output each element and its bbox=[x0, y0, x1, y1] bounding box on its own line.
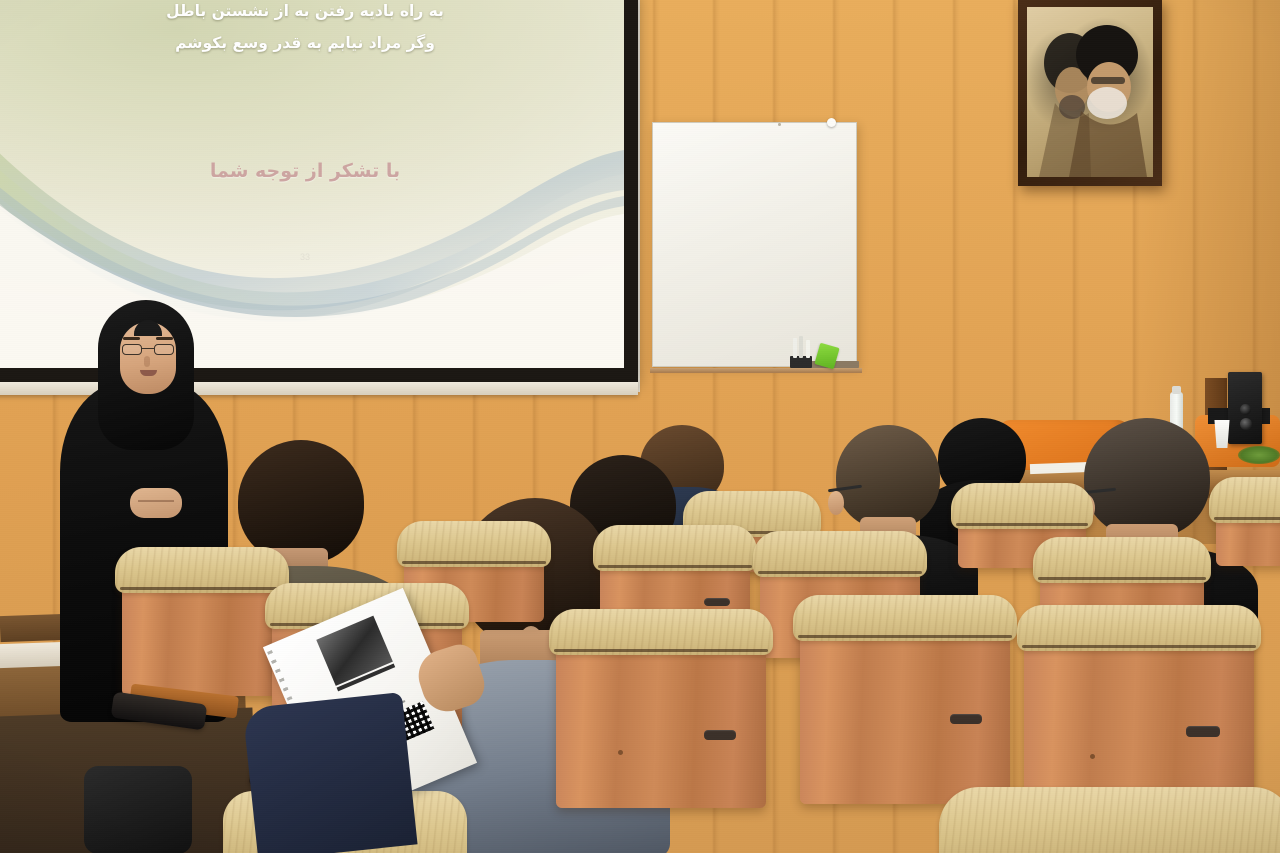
marker-icon bbox=[806, 340, 810, 358]
glasses-lens-left bbox=[122, 344, 142, 355]
chair-seam bbox=[554, 649, 768, 652]
ear bbox=[828, 491, 844, 515]
chair-seam bbox=[956, 523, 1088, 526]
presenter-glasses bbox=[122, 344, 174, 355]
presenter-eyebrow bbox=[156, 337, 173, 340]
attendee-suit-foreground bbox=[242, 692, 417, 853]
framed-portrait bbox=[1018, 0, 1162, 186]
chair-seam bbox=[1022, 645, 1256, 648]
presenter-nose bbox=[144, 356, 150, 367]
chair-handle[interactable] bbox=[704, 730, 736, 740]
water-bottle-cap bbox=[1172, 386, 1181, 394]
speaker-driver-icon bbox=[1240, 404, 1251, 415]
portrait-figures bbox=[1027, 7, 1153, 177]
slide-page-number: 33 bbox=[0, 252, 624, 262]
head bbox=[1084, 418, 1210, 538]
chair-seam bbox=[1038, 577, 1206, 580]
chair-screw bbox=[1090, 754, 1095, 759]
portrait-image bbox=[1027, 7, 1153, 177]
presenter-hands bbox=[130, 488, 182, 518]
marker-icon bbox=[793, 338, 797, 358]
slide-poem-line-2: وگر مراد نیابم به قدر وسع بکوشم bbox=[0, 34, 624, 52]
whiteboard-shelf bbox=[650, 368, 862, 373]
auditorium-chair[interactable] bbox=[556, 618, 766, 808]
chair-seam bbox=[598, 565, 752, 568]
plant bbox=[1238, 446, 1280, 464]
chair-seam bbox=[758, 571, 922, 574]
slide-poem-line-1: به راه بادیه رفتن به از نشستن باطل bbox=[0, 2, 624, 20]
flyer-photo bbox=[316, 616, 393, 686]
whiteboard-mount-knob bbox=[827, 118, 836, 127]
whiteboard bbox=[652, 122, 857, 367]
chair-handle[interactable] bbox=[704, 598, 730, 606]
head bbox=[836, 425, 940, 529]
head bbox=[238, 440, 364, 564]
slide-thanks-text: با تشکر از توجه شما bbox=[0, 160, 624, 182]
chair-seam bbox=[402, 561, 546, 564]
chair-seam bbox=[120, 587, 284, 590]
bag-on-floor bbox=[84, 766, 192, 853]
chair-handle[interactable] bbox=[1186, 726, 1220, 737]
chair-screw bbox=[618, 750, 623, 755]
chair-seam bbox=[798, 635, 1012, 638]
auditorium-chair[interactable] bbox=[946, 796, 1280, 853]
chair-upholstery bbox=[939, 787, 1280, 853]
chair-handle[interactable] bbox=[950, 714, 982, 724]
marker-icon bbox=[799, 336, 803, 358]
photo-scene: به راه بادیه رفتن به از نشستن باطل وگر م… bbox=[0, 0, 1280, 853]
auditorium-chair[interactable] bbox=[1216, 486, 1280, 566]
auditorium-chair[interactable] bbox=[122, 556, 282, 696]
hand-crease bbox=[138, 500, 174, 502]
glasses-bridge bbox=[142, 348, 154, 349]
presenter-eyebrow bbox=[123, 337, 140, 340]
glasses-lens-right bbox=[154, 344, 174, 355]
whiteboard-pin bbox=[778, 123, 781, 126]
speaker-driver-icon bbox=[1240, 418, 1252, 430]
chair-seam bbox=[1214, 517, 1280, 520]
auditorium-chair[interactable] bbox=[800, 604, 1010, 804]
